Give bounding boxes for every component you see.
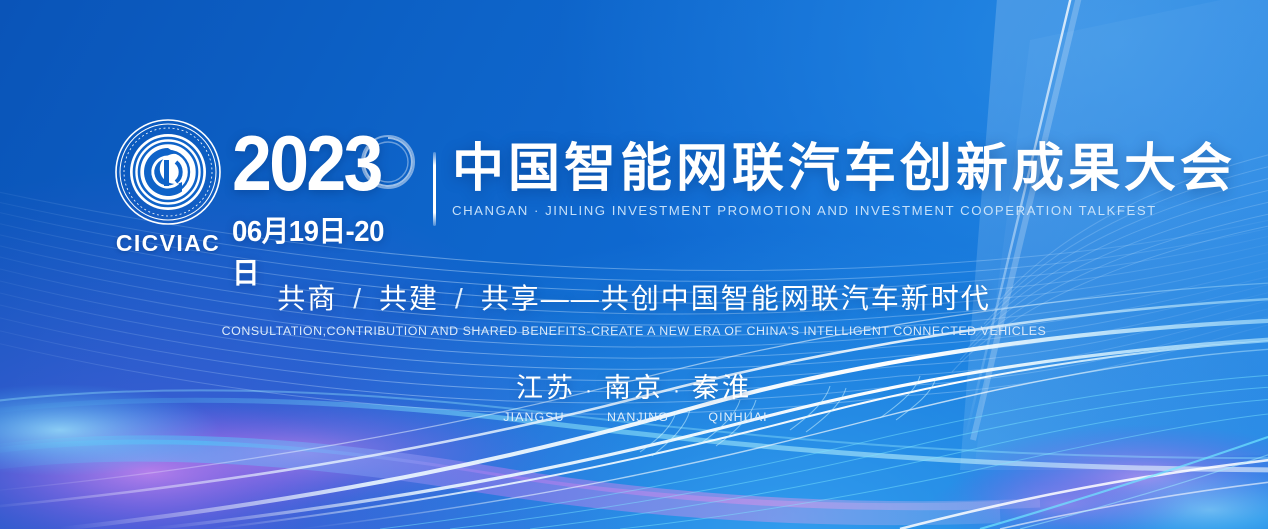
location-chinese: 江苏·南京·秦淮 xyxy=(0,372,1268,407)
location-province: 江苏 xyxy=(516,373,576,403)
slogan-part-3: 共享——共创中国智能网联汽车新时代 xyxy=(481,283,991,314)
year-number: 2023 xyxy=(232,124,418,206)
location-city-en: NANJING xyxy=(586,410,690,424)
location-district-en: QINHUAI xyxy=(690,410,786,424)
slogan-part-2: 共建 xyxy=(379,283,439,314)
location-english: JIANGSUNANJINGQINHUAI xyxy=(0,410,1268,424)
year-date-block: 2023 06月19日-20日 xyxy=(232,124,418,292)
page-title: 中国智能网联汽车创新成果大会 xyxy=(452,140,1212,198)
slogan-separator-1: / xyxy=(353,283,363,314)
logo-wordmark: CICVIAC xyxy=(104,230,232,257)
slogan-separator-2: / xyxy=(455,283,465,314)
conference-banner: CICVIAC 2023 06月19日-20日 中国智能网联汽车创新成果大会 C… xyxy=(0,0,1268,529)
slogan-english: CONSULTATION,CONTRIBUTION AND SHARED BEN… xyxy=(0,324,1268,338)
title-block: 中国智能网联汽车创新成果大会 CHANGAN · JINLING INVESTM… xyxy=(452,140,1212,218)
vertical-divider xyxy=(433,152,436,226)
slogan-part-1: 共商 xyxy=(277,283,337,314)
location-city: 南京 xyxy=(604,373,664,403)
circular-arrow-ring-icon xyxy=(356,130,420,194)
location-district: 秦淮 xyxy=(692,373,752,403)
event-logo: CICVIAC xyxy=(104,118,232,257)
event-date: 06月19日-20日 xyxy=(232,208,409,292)
diagonal-panel-decoration xyxy=(0,0,1268,529)
slogan-chinese: 共商/共建/共享——共创中国智能网联汽车新时代 xyxy=(0,282,1268,316)
location-province-en: JIANGSU xyxy=(482,410,586,424)
slogan-block: 共商/共建/共享——共创中国智能网联汽车新时代 CONSULTATION,CON… xyxy=(0,282,1268,338)
page-subtitle: CHANGAN · JINLING INVESTMENT PROMOTION A… xyxy=(452,203,1212,218)
wave-lines-decoration xyxy=(0,0,1268,529)
location-dot-2: · xyxy=(673,379,683,402)
cicviac-emblem-icon xyxy=(114,118,222,226)
location-dot-1: · xyxy=(585,379,595,402)
light-trails-decoration xyxy=(0,0,1268,529)
location-block: 江苏·南京·秦淮 JIANGSUNANJINGQINHUAI xyxy=(0,372,1268,424)
